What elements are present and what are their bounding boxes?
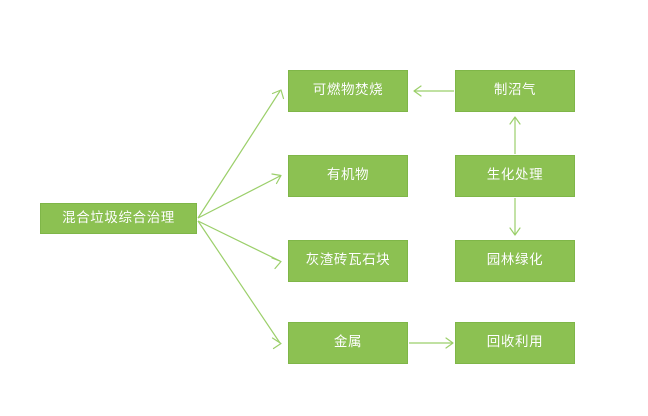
- node-ash-brick-label: 灰渣砖瓦石块: [306, 254, 391, 268]
- node-biochem[interactable]: 生化处理: [455, 155, 575, 197]
- edge-root-to-ash-brick: [198, 221, 281, 269]
- node-metal-label: 金属: [334, 336, 362, 350]
- node-metal[interactable]: 金属: [288, 322, 408, 364]
- node-landscaping-label: 园林绿化: [487, 254, 543, 268]
- node-root[interactable]: 混合垃圾综合治理: [40, 203, 197, 234]
- edge-root-to-organic: [198, 174, 281, 218]
- edge-biochem-to-landscaping: [510, 198, 520, 235]
- node-biogas[interactable]: 制沼气: [455, 70, 575, 112]
- flowchart-canvas: 混合垃圾综合治理 可燃物焚烧 有机物 灰渣砖瓦石块 金属 制沼气 生化处理 园林…: [0, 0, 648, 416]
- node-biochem-label: 生化处理: [487, 169, 543, 183]
- edge-root-to-combustible: [198, 90, 284, 218]
- edge-biogas-to-combustible: [414, 86, 454, 96]
- edge-biochem-to-biogas: [510, 117, 520, 154]
- node-organic-label: 有机物: [327, 169, 369, 183]
- node-ash-brick[interactable]: 灰渣砖瓦石块: [288, 240, 408, 282]
- node-landscaping[interactable]: 园林绿化: [455, 240, 575, 282]
- edge-metal-to-recycle: [409, 338, 453, 348]
- node-root-label: 混合垃圾综合治理: [62, 212, 175, 226]
- node-biogas-label: 制沼气: [494, 84, 536, 98]
- edge-root-to-metal: [198, 221, 281, 349]
- node-combustible-label: 可燃物焚烧: [313, 84, 384, 98]
- node-organic[interactable]: 有机物: [288, 155, 408, 197]
- node-recycle-label: 回收利用: [487, 336, 543, 350]
- node-recycle[interactable]: 回收利用: [455, 322, 575, 364]
- node-combustible[interactable]: 可燃物焚烧: [288, 70, 408, 112]
